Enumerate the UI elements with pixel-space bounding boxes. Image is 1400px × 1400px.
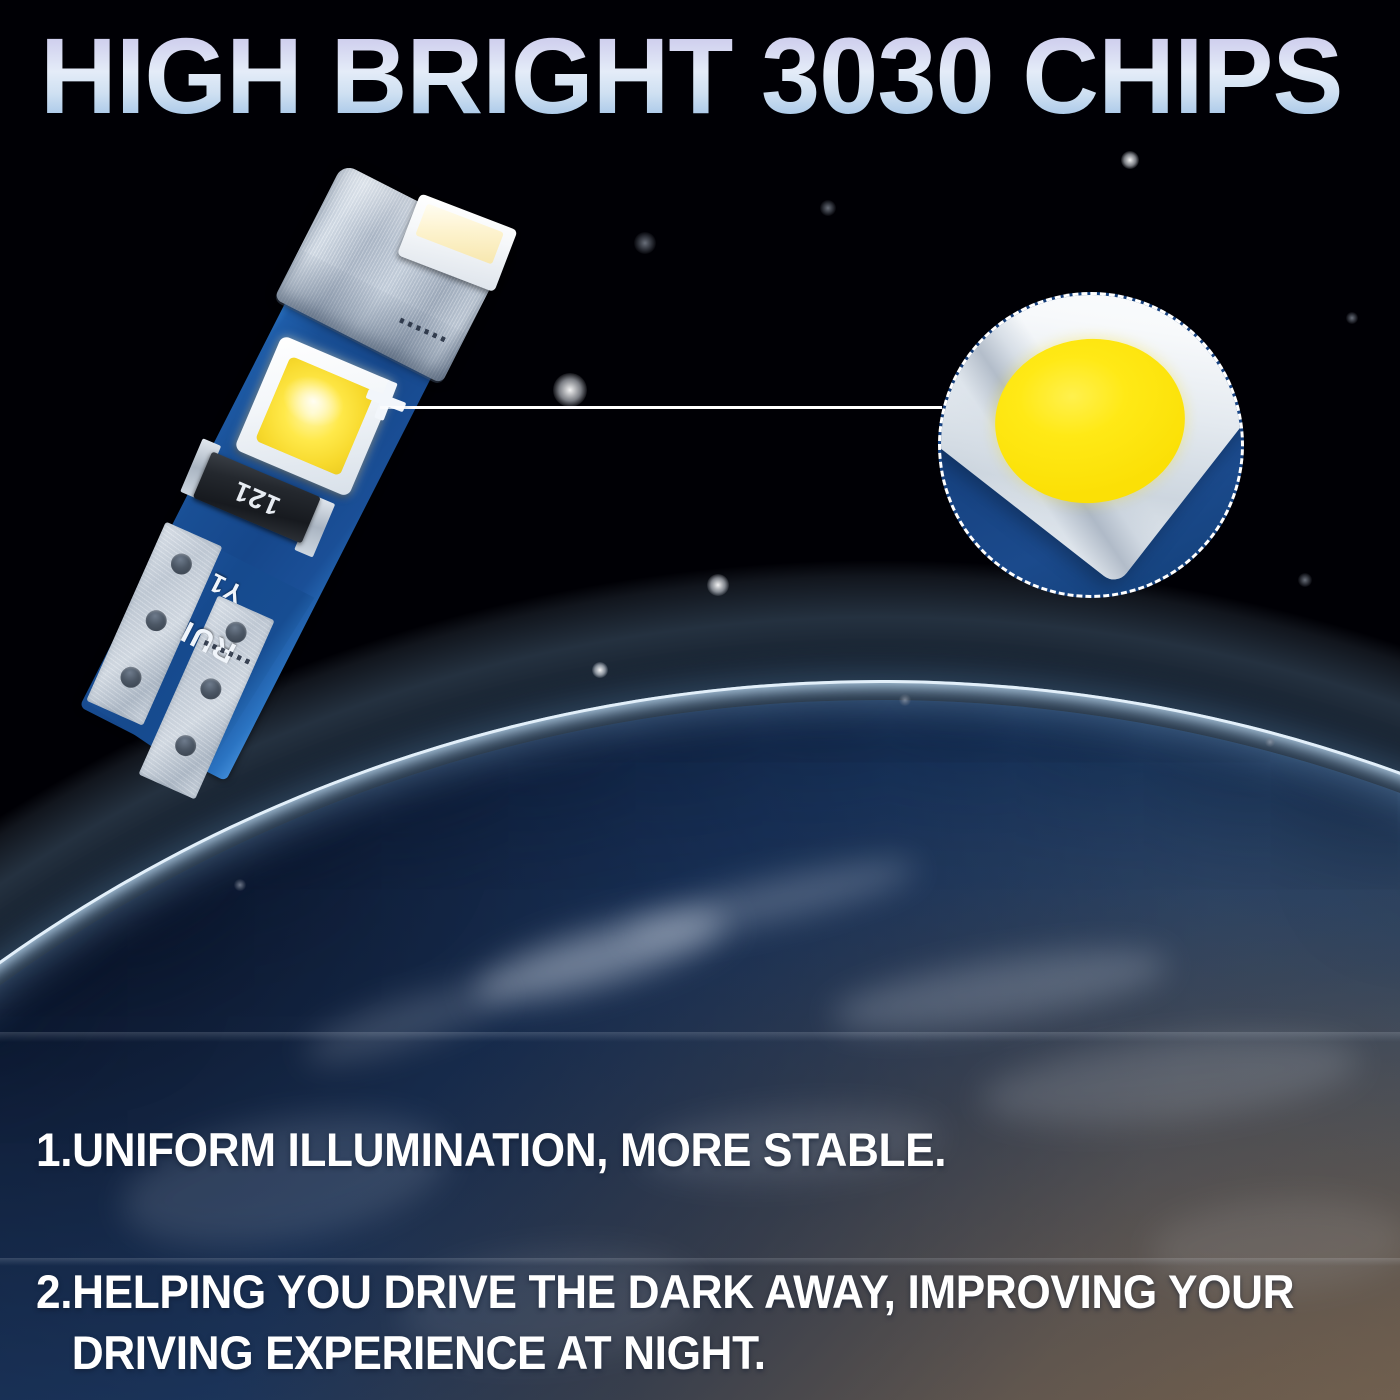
feature-bullet-2: 2.HELPING YOU DRIVE THE DARK AWAY, IMPRO… [36,1200,1296,1400]
star [1346,312,1358,324]
product-marketing-image: 121 Y1 RUI HIGH BRIGHT 3030 CHIPS [0,0,1400,1400]
star [899,694,911,706]
feature-bullet-list: 1.UNIFORM ILLUMINATION, MORE STABLE. 2.H… [36,1058,1376,1400]
callout-leader-line [380,406,942,409]
bullet-2-text: HELPING YOU DRIVE THE DARK AWAY, IMPROVI… [72,1265,1294,1318]
star [707,574,729,596]
magnified-chip-callout [938,292,1244,598]
page-title: HIGH BRIGHT 3030 CHIPS [40,22,1360,130]
bullet-1-text: UNIFORM ILLUMINATION, MORE STABLE. [72,1123,946,1176]
overlay-band-top [0,1032,1400,1042]
bullet-1-number: 1. [36,1123,72,1176]
star [1298,573,1312,587]
bullet-2-number: 2. [36,1265,72,1318]
star [592,662,608,678]
star [820,200,836,216]
resistor-code: 121 [229,474,285,521]
star [1265,737,1275,747]
star [234,879,246,891]
star [553,373,587,407]
main-led-phosphor [255,356,376,477]
star [634,232,656,254]
star [1121,151,1139,169]
magnified-chip-content [941,295,1241,595]
feature-bullet-1: 1.UNIFORM ILLUMINATION, MORE STABLE. [36,1058,1296,1180]
bullet-2-continuation: DRIVING EXPERIENCE AT NIGHT. [36,1322,1296,1383]
